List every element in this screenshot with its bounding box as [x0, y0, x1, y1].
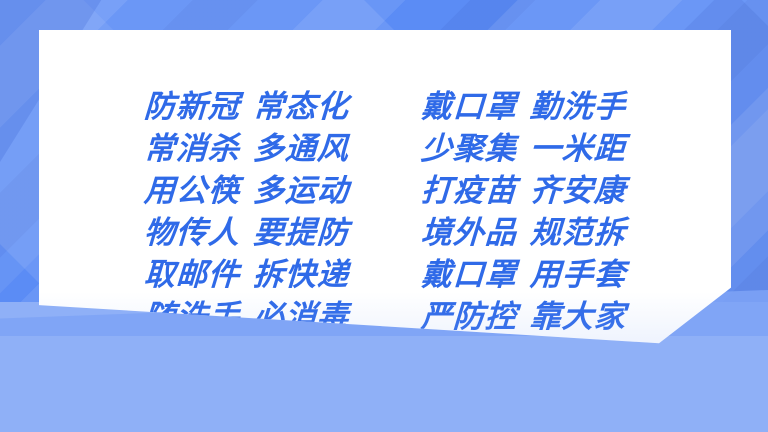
slogan-part-second: 要提防 — [252, 215, 350, 251]
slogan-part-first: 打疫苗 — [420, 173, 518, 209]
poster-root: 防新冠常态化 常消杀多通风 用公筷多运动 物传人要提防 取邮件拆快递 随洗手必消… — [0, 0, 768, 432]
slogan-line: 取邮件拆快递 — [143, 256, 350, 294]
slogan-part-second: 多通风 — [252, 131, 350, 167]
slogan-part-first: 常消杀 — [143, 131, 241, 167]
slogan-line: 防新冠常态化 — [143, 88, 350, 126]
slogan-part-first: 物传人 — [143, 215, 241, 251]
slogan-part-second: 规范拆 — [529, 215, 627, 251]
slogan-part-second: 勤洗手 — [529, 89, 627, 125]
slogan-card: 防新冠常态化 常消杀多通风 用公筷多运动 物传人要提防 取邮件拆快递 随洗手必消… — [39, 30, 731, 348]
slogan-part-second: 拆快递 — [252, 257, 350, 293]
slogan-line: 常消杀多通风 — [143, 130, 350, 168]
slogan-line: 戴口罩勤洗手 — [420, 88, 627, 126]
slogan-part-first: 防新冠 — [143, 89, 241, 125]
slogan-part-first: 戴口罩 — [420, 89, 518, 125]
slogan-line: 境外品规范拆 — [420, 214, 627, 252]
slogan-part-second: 一米距 — [529, 131, 627, 167]
slogan-part-first: 境外品 — [420, 215, 518, 251]
slogan-part-first: 戴口罩 — [420, 257, 518, 293]
slogan-part-second: 靠大家 — [529, 299, 627, 335]
slogan-line: 用公筷多运动 — [143, 172, 350, 210]
slogan-column-left: 防新冠常态化 常消杀多通风 用公筷多运动 物传人要提防 取邮件拆快递 随洗手必消… — [144, 88, 349, 336]
slogan-line: 少聚集一米距 — [420, 130, 627, 168]
slogan-line: 物传人要提防 — [143, 214, 350, 252]
slogan-grid: 防新冠常态化 常消杀多通风 用公筷多运动 物传人要提防 取邮件拆快递 随洗手必消… — [39, 88, 731, 336]
slogan-line: 严防控靠大家 — [420, 298, 627, 336]
slogan-part-second: 用手套 — [529, 257, 627, 293]
slogan-column-right: 戴口罩勤洗手 少聚集一米距 打疫苗齐安康 境外品规范拆 戴口罩用手套 严防控靠大… — [421, 88, 626, 336]
slogan-part-first: 少聚集 — [420, 131, 518, 167]
slogan-part-first: 用公筷 — [143, 173, 241, 209]
slogan-part-second: 多运动 — [252, 173, 350, 209]
slogan-line: 打疫苗齐安康 — [420, 172, 627, 210]
slogan-part-second: 常态化 — [252, 89, 350, 125]
slogan-line: 戴口罩用手套 — [420, 256, 627, 294]
slogan-part-second: 齐安康 — [529, 173, 627, 209]
slogan-part-first: 取邮件 — [143, 257, 241, 293]
